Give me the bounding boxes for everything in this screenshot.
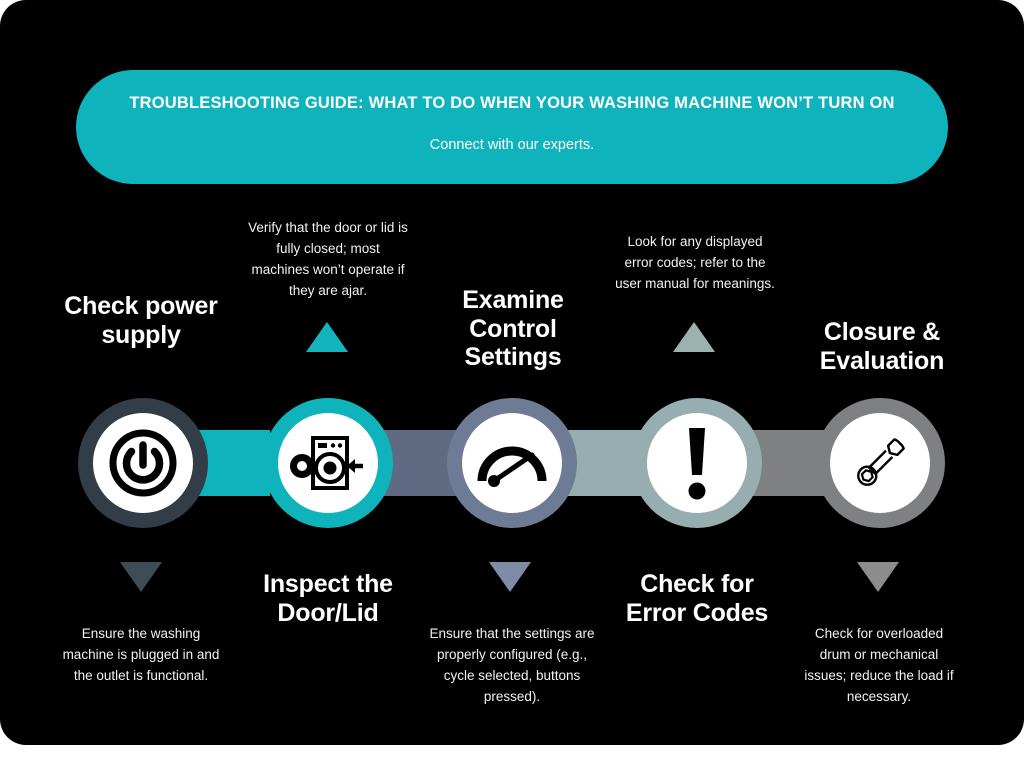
triangle-up-2 [306, 322, 348, 352]
power-icon [107, 427, 179, 499]
step-node-4-inner [647, 413, 747, 513]
step-description-4: Look for any displayed error codes; refe… [612, 232, 778, 295]
header-banner: TROUBLESHOOTING GUIDE: WHAT TO DO WHEN Y… [76, 70, 948, 184]
step-node-4[interactable] [632, 398, 762, 528]
step-node-1-inner [93, 413, 193, 513]
washing-machine-icon [289, 428, 367, 498]
step-node-2-inner [278, 413, 378, 513]
step-node-1[interactable] [78, 398, 208, 528]
triangle-down-5 [857, 562, 899, 592]
header-subtitle: Connect with our experts. [430, 137, 594, 153]
step-node-3-inner [462, 413, 562, 513]
triangle-up-4 [673, 322, 715, 352]
step-node-5[interactable] [815, 398, 945, 528]
wrench-icon [845, 428, 915, 498]
step-title-5: Closure & Evaluation [794, 318, 970, 375]
infographic-canvas: TROUBLESHOOTING GUIDE: WHAT TO DO WHEN Y… [0, 0, 1024, 745]
step-description-1: Ensure the washing machine is plugged in… [58, 624, 224, 687]
triangle-down-3 [489, 562, 531, 592]
step-node-3[interactable] [447, 398, 577, 528]
step-title-4: Check for Error Codes [612, 570, 782, 627]
step-title-1: Check power supply [60, 292, 222, 349]
triangle-down-1 [120, 562, 162, 592]
step-chain [0, 398, 1024, 528]
step-description-2: Verify that the door or lid is fully clo… [248, 218, 408, 302]
page-title: TROUBLESHOOTING GUIDE: WHAT TO DO WHEN Y… [129, 94, 894, 113]
step-title-3: Examine Control Settings [432, 286, 594, 372]
step-node-5-inner [830, 413, 930, 513]
exclamation-icon [677, 425, 717, 501]
step-description-3: Ensure that the settings are properly co… [428, 624, 596, 708]
step-title-2: Inspect the Door/Lid [243, 570, 413, 627]
step-description-5: Check for overloaded drum or mechanical … [800, 624, 958, 708]
gauge-icon [474, 433, 550, 493]
step-node-2[interactable] [263, 398, 393, 528]
